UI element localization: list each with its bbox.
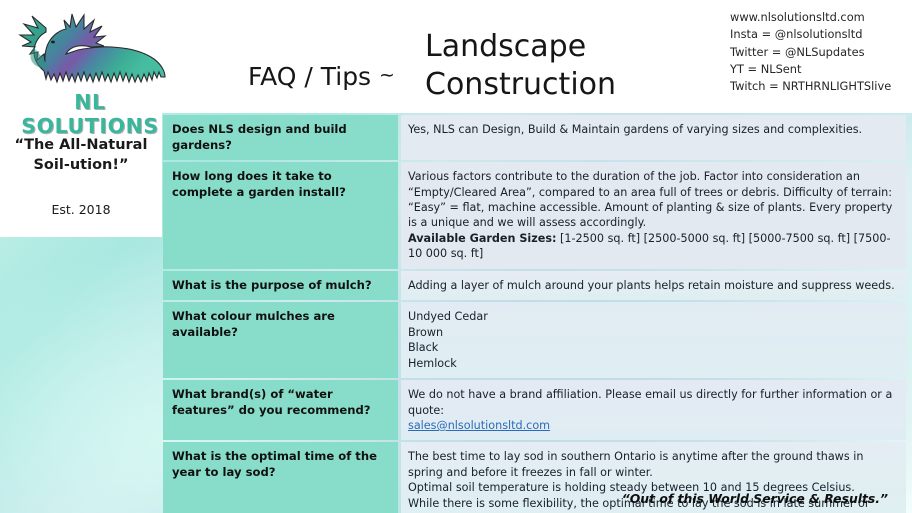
- brand-logo: NL SOLUTIONS: [4, 2, 176, 114]
- faq-answer-line: Yes, NLS can Design, Build & Maintain ga…: [408, 122, 898, 137]
- faq-answer-line: The best time to lay sod in southern Ont…: [408, 449, 898, 480]
- contact-info: www.nlsolutionsltd.com Insta = @nlsoluti…: [730, 9, 891, 96]
- footer-tagline: “Out of this World Service & Results.”: [622, 491, 888, 506]
- slogan-line-1: “The All-Natural: [0, 136, 162, 156]
- faq-answer-line: We do not have a brand affiliation. Plea…: [408, 387, 898, 418]
- faq-question: What is the optimal time of the year to …: [163, 442, 398, 513]
- title-prefix: FAQ / Tips ~: [248, 62, 395, 91]
- faq-answer-sizes: Available Garden Sizes: [1-2500 sq. ft] …: [408, 231, 898, 262]
- moose-logo-icon: [4, 2, 176, 102]
- table-row: How long does it take to complete a gard…: [163, 162, 906, 269]
- established-year: Est. 2018: [0, 202, 162, 217]
- title-main-line-1: Landscape: [425, 28, 705, 66]
- contact-website[interactable]: www.nlsolutionsltd.com: [730, 9, 891, 26]
- email-link[interactable]: sales@nlsolutionsltd.com: [408, 418, 898, 433]
- faq-answer: Undyed Cedar Brown Black Hemlock: [401, 302, 906, 378]
- brand-slogan: “The All-Natural Soil-ution!”: [0, 136, 162, 175]
- title-tilde: ~: [379, 64, 395, 86]
- title-main: Landscape Construction: [425, 28, 705, 104]
- contact-instagram[interactable]: Insta = @nlsolutionsltd: [730, 26, 891, 43]
- title-main-line-2: Construction: [425, 66, 705, 104]
- faq-answer: Yes, NLS can Design, Build & Maintain ga…: [401, 115, 906, 160]
- faq-question: What colour mulches are available?: [163, 302, 398, 378]
- faq-answer-line: Adding a layer of mulch around your plan…: [408, 278, 898, 293]
- faq-question: What brand(s) of “water features” do you…: [163, 380, 398, 440]
- table-row: Does NLS design and build gardens? Yes, …: [163, 115, 906, 160]
- faq-answer-line: Brown: [408, 325, 898, 340]
- title-prefix-text: FAQ / Tips: [248, 62, 371, 91]
- faq-question: What is the purpose of mulch?: [163, 271, 398, 301]
- faq-answer-line: Various factors contribute to the durati…: [408, 169, 898, 231]
- faq-answer-line: Undyed Cedar: [408, 309, 898, 324]
- slide-canvas: NL SOLUTIONS “The All-Natural Soil-ution…: [0, 0, 912, 513]
- faq-answer-line: Black: [408, 340, 898, 355]
- faq-answer-sizes-label: Available Garden Sizes:: [408, 232, 556, 245]
- faq-answer: We do not have a brand affiliation. Plea…: [401, 380, 906, 440]
- contact-twitter[interactable]: Twitter = @NLSupdates: [730, 44, 891, 61]
- logo-wordmark: NL SOLUTIONS: [4, 90, 176, 138]
- faq-answer-line: Hemlock: [408, 356, 898, 371]
- table-row: What brand(s) of “water features” do you…: [163, 380, 906, 440]
- faq-answer: Various factors contribute to the durati…: [401, 162, 906, 269]
- faq-table: Does NLS design and build gardens? Yes, …: [163, 115, 906, 513]
- page-title: FAQ / Tips ~ Landscape Construction: [235, 18, 705, 108]
- contact-twitch[interactable]: Twitch = NRTHRNLIGHTSlive: [730, 78, 891, 95]
- table-row: What colour mulches are available? Undye…: [163, 302, 906, 378]
- contact-youtube[interactable]: YT = NLSent: [730, 61, 891, 78]
- faq-answer: Adding a layer of mulch around your plan…: [401, 271, 906, 301]
- table-row: What is the purpose of mulch? Adding a l…: [163, 271, 906, 301]
- faq-question: How long does it take to complete a gard…: [163, 162, 398, 269]
- faq-question: Does NLS design and build gardens?: [163, 115, 398, 160]
- slogan-line-2: Soil-ution!”: [0, 156, 162, 176]
